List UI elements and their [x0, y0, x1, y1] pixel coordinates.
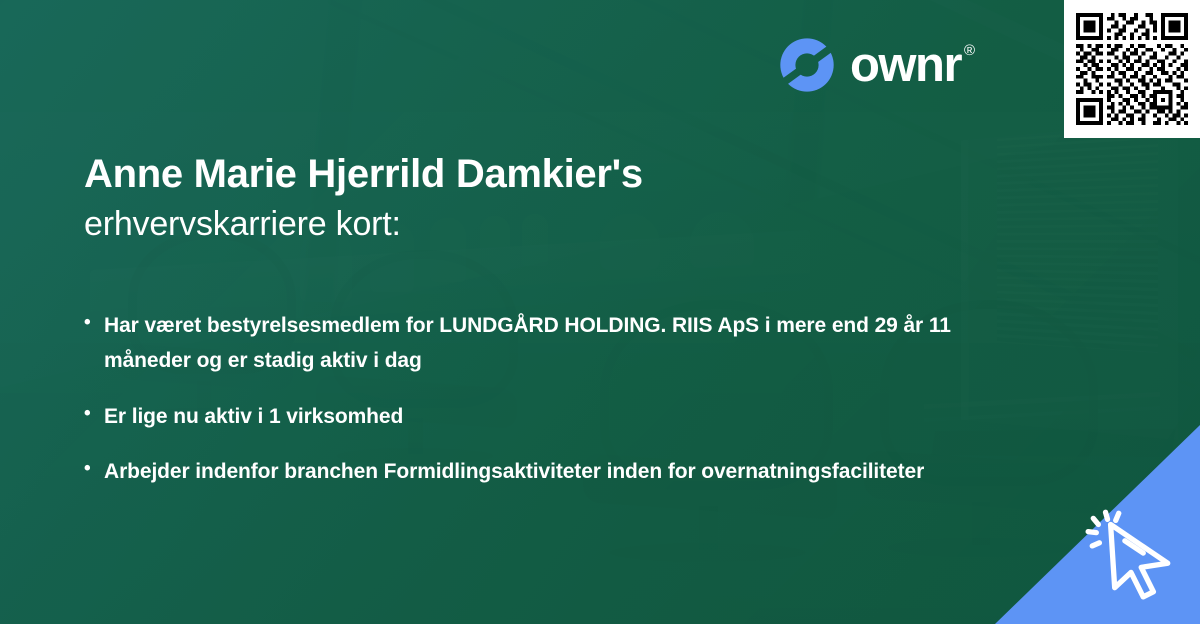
- list-item: Arbejder indenfor branchen Formidlingsak…: [84, 454, 964, 489]
- title-line-name: Anne Marie Hjerrild Damkier's: [84, 152, 964, 198]
- qr-code-image: [1076, 13, 1188, 125]
- registered-trademark-symbol: ®: [964, 42, 975, 59]
- page-title: Anne Marie Hjerrild Damkier's erhvervska…: [84, 152, 964, 246]
- list-item: Har været bestyrelsesmedlem for LUNDGÅRD…: [84, 308, 964, 379]
- ownr-circle-logo-icon: [778, 36, 836, 94]
- qr-code[interactable]: [1064, 0, 1200, 138]
- click-cursor-icon: [1080, 500, 1182, 602]
- ownr-wordmark: ownr: [850, 41, 961, 90]
- list-item: Er lige nu aktiv i 1 virksomhed: [84, 399, 964, 434]
- career-facts-list: Har været bestyrelsesmedlem for LUNDGÅRD…: [84, 308, 964, 509]
- career-card: ownr ®: [0, 0, 1200, 624]
- title-line-subtitle: erhvervskarriere kort:: [84, 202, 964, 246]
- ownr-logo[interactable]: ownr ®: [778, 36, 975, 94]
